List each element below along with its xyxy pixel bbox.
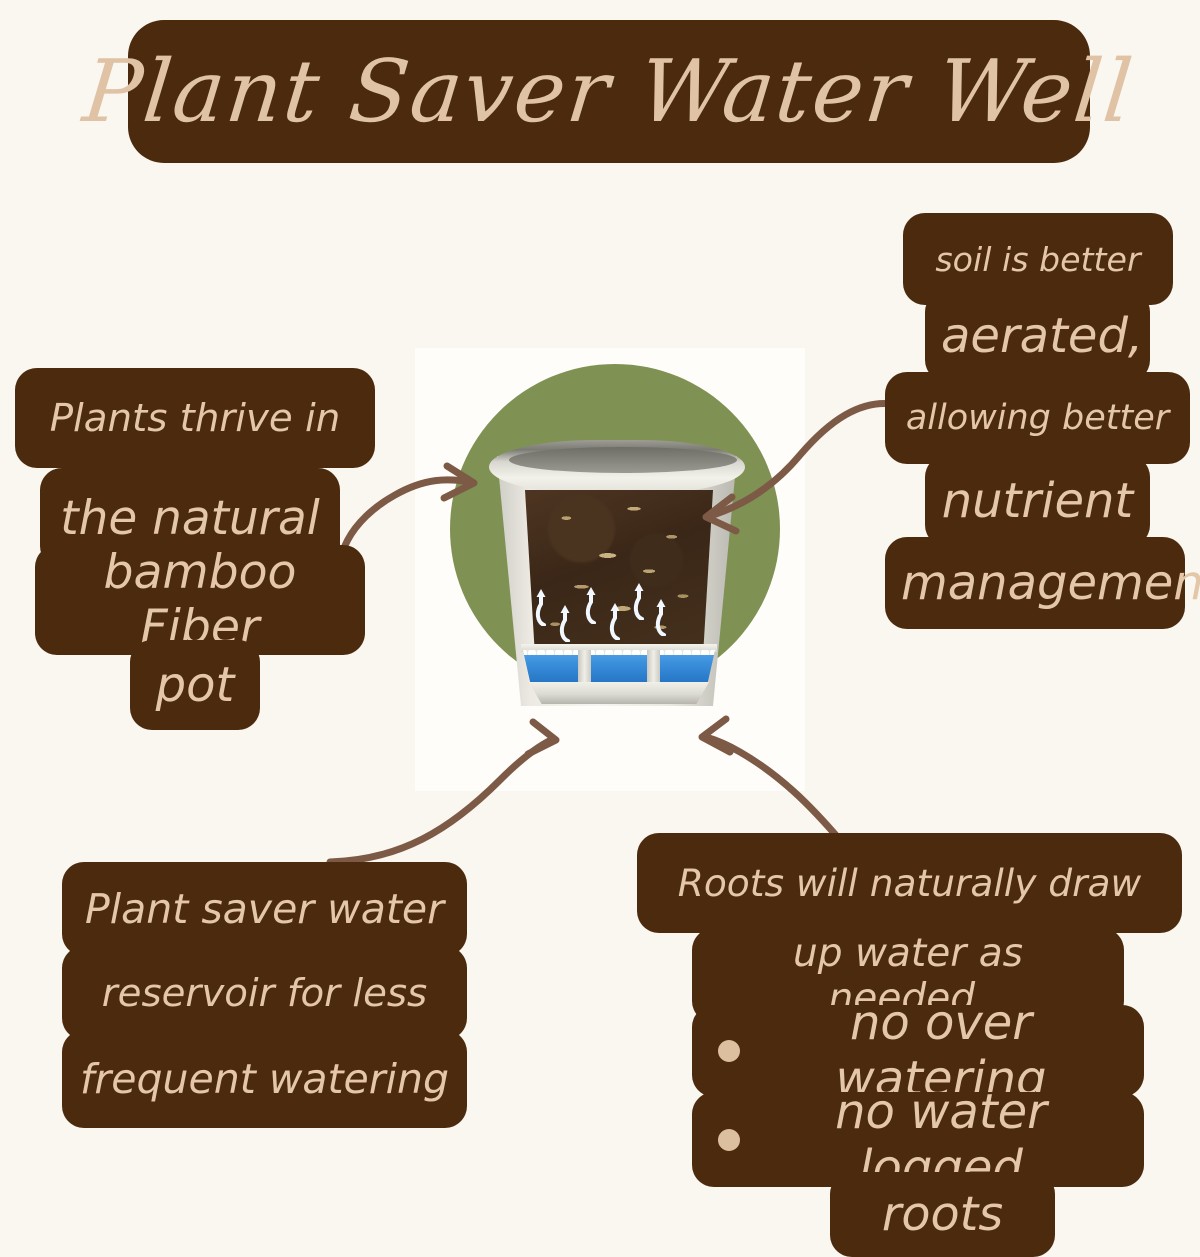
callout-line: Plant saver water (62, 862, 467, 956)
callout-line-text: bamboo Fiber (51, 545, 349, 655)
airflow-arrow-icon (535, 586, 554, 626)
airflow-arrow-icon (609, 600, 628, 640)
callout-line-text: aerated, (941, 308, 1134, 364)
title-banner: Plant Saver Water Well (128, 20, 1090, 163)
callout-line-text: management (901, 555, 1169, 611)
reservoir-divider (578, 650, 591, 684)
bullet-point-icon (718, 1040, 740, 1062)
airflow-arrow-icon (655, 596, 674, 636)
water-reservoir (523, 650, 715, 684)
reservoir-cell (660, 650, 715, 684)
callout-line: aerated, (925, 290, 1150, 382)
reservoir-cell (523, 650, 578, 684)
infographic-canvas: Plant Saver Water Well (0, 0, 1200, 1245)
callout-line: Roots will naturally draw (637, 833, 1182, 933)
pot-rim-inner-shadow (509, 447, 737, 473)
product-illustration (415, 348, 805, 791)
callout-line-text: allowing better (901, 398, 1174, 438)
callout-line-text: Plant saver water (78, 885, 451, 933)
callout-line-text: roots (846, 1187, 1039, 1242)
callout-line: management (885, 537, 1185, 629)
airflow-arrow-icon (559, 602, 578, 642)
airflow-arrow-icon (585, 584, 604, 624)
callout-line: reservoir for less (62, 946, 467, 1040)
bullet-point-icon (718, 1129, 740, 1151)
callout-line: frequent watering (62, 1030, 467, 1128)
callout-line-text: Plants thrive in (31, 396, 359, 441)
callout-line-text: frequent watering (78, 1055, 451, 1103)
reservoir-cell (591, 650, 646, 684)
page-title: Plant Saver Water Well (80, 49, 1138, 135)
reservoir-divider (647, 650, 660, 684)
pot-rim (489, 440, 745, 494)
callout-line: nutrient (925, 455, 1150, 547)
airflow-arrow-icon (633, 580, 652, 620)
pot-base (529, 682, 709, 704)
callout-line-text: the natural (56, 491, 324, 546)
callout-line-text: pot (146, 657, 244, 713)
callout-line: bamboo Fiber (35, 545, 365, 655)
callout-line: pot (130, 640, 260, 730)
callout-line-text: nutrient (941, 473, 1134, 529)
callout-line: roots (830, 1172, 1055, 1257)
callout-line: Plants thrive in (15, 368, 375, 468)
self-watering-pot (483, 434, 751, 709)
callout-line-text: Roots will naturally draw (653, 861, 1166, 905)
callout-line-text: soil is better (919, 240, 1157, 279)
callout-line-text: reservoir for less (78, 971, 451, 1016)
callout-line: allowing better (885, 372, 1190, 464)
